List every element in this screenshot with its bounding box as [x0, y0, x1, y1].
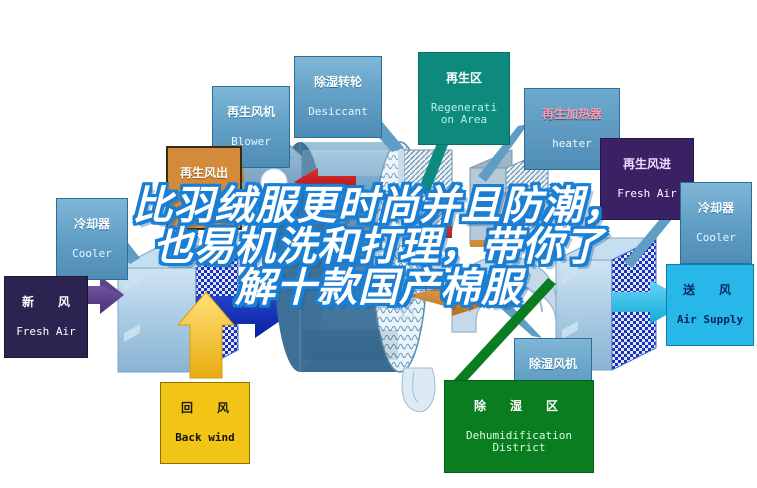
label-back-wind[interactable]: 回 风 Back wind: [160, 382, 250, 464]
label-cooler-right[interactable]: 冷却器 Cooler: [680, 182, 752, 264]
label-cooler-left[interactable]: 冷却器 Cooler: [56, 198, 128, 280]
rotor-base-drip: [402, 368, 435, 412]
label-cooler-left-en: Cooler: [61, 248, 123, 260]
label-regeneration-area[interactable]: 再生区 Regenerati on Area: [418, 52, 510, 145]
label-dehum-district-cn: 除 湿 区: [449, 400, 589, 413]
label-back-wind-en: Back wind: [165, 432, 245, 444]
label-desiccant[interactable]: 除湿转轮 Desiccant: [294, 56, 382, 138]
diagram-canvas: XT XT 除湿转轮 Desiccant 再生风机 Blower 再生区 Reg…: [0, 0, 757, 488]
label-cooler-right-en: Cooler: [685, 232, 747, 244]
label-regen-fresh-air-cn: 再生风进: [605, 158, 689, 171]
watermark-right: XT: [566, 306, 586, 324]
label-fresh-air[interactable]: 新 风 Fresh Air: [4, 276, 88, 358]
label-fresh-air-en: Fresh Air: [9, 326, 83, 338]
label-dehum-district-en: Dehumidification District: [449, 430, 589, 453]
label-air-supply-cn: 送 风: [671, 284, 749, 297]
label-cooler-right-cn: 冷却器: [685, 202, 747, 215]
label-desiccant-cn: 除湿转轮: [299, 76, 377, 89]
label-dehumidification-district[interactable]: 除 湿 区 Dehumidification District: [444, 380, 594, 473]
label-back-wind-cn: 回 风: [165, 402, 245, 415]
label-regen-exhaust-cn: 再生风出: [172, 167, 236, 180]
label-regen-exhaust-en: Exhaust: [172, 197, 236, 209]
label-regen-area-cn: 再生区: [423, 72, 505, 85]
label-regen-area-en: Regenerati on Area: [423, 102, 505, 125]
label-air-supply[interactable]: 送 风 Air Supply: [666, 264, 754, 346]
label-regeneration-exhaust[interactable]: 再生风出 Exhaust: [166, 146, 242, 230]
label-desiccant-en: Desiccant: [299, 106, 377, 118]
label-regen-fresh-air-en: Fresh Air: [605, 188, 689, 200]
label-fresh-air-cn: 新 风: [9, 296, 83, 309]
watermark-center: XT: [398, 306, 418, 324]
label-cooler-left-cn: 冷却器: [61, 218, 123, 231]
label-air-supply-en: Air Supply: [671, 314, 749, 326]
label-regen-heater-cn: 再生加热器: [529, 108, 615, 121]
label-dehum-blower-cn: 除湿风机: [519, 358, 587, 371]
label-regen-blower-cn: 再生风机: [217, 106, 285, 119]
